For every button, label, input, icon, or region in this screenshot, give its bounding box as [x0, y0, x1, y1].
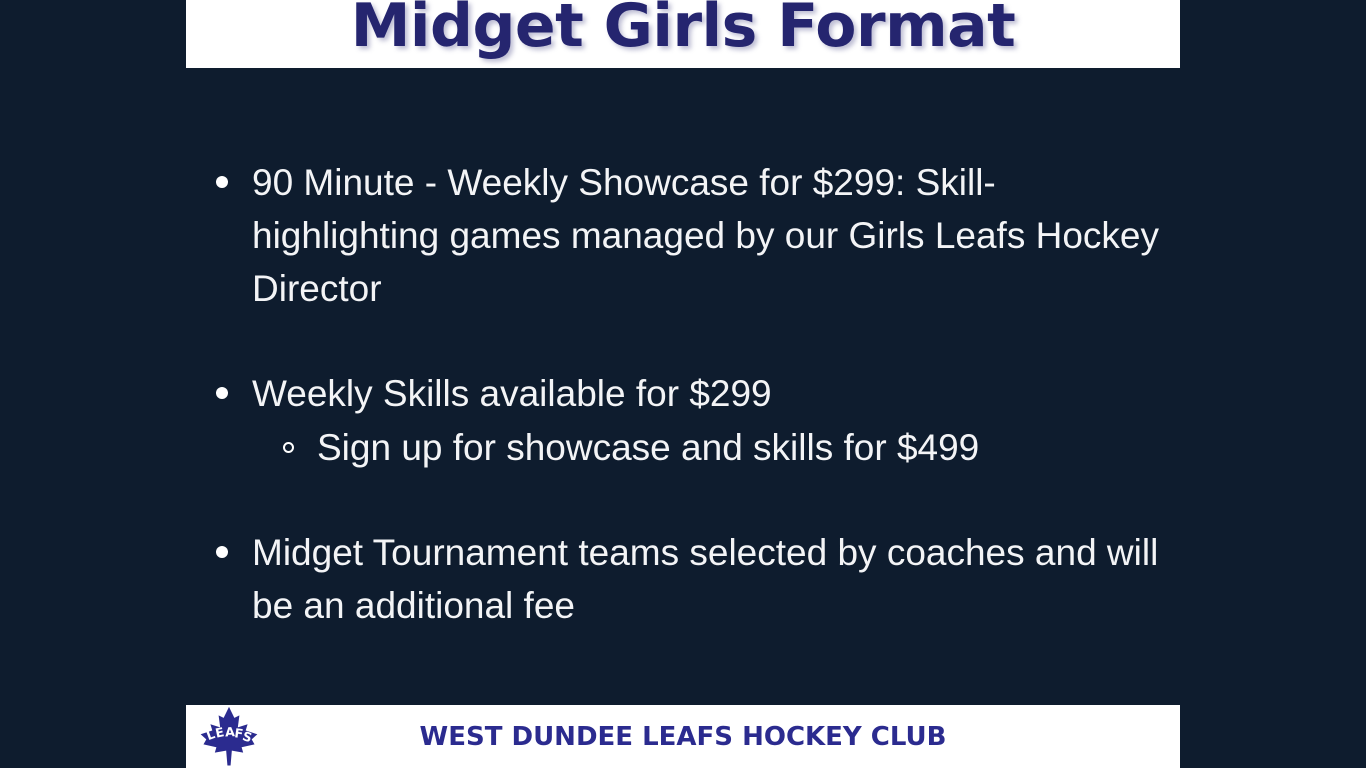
disc-bullet-icon — [216, 176, 228, 188]
maple-leaf-logo-icon: L E A F S — [196, 705, 262, 768]
slide-title-bar: Midget Girls Format — [186, 0, 1180, 68]
circle-bullet-icon — [283, 442, 294, 453]
bullet-text: Midget Tournament teams selected by coac… — [252, 532, 1158, 626]
bullet-text: 90 Minute - Weekly Showcase for $299: Sk… — [252, 162, 1159, 309]
bullet-text: Weekly Skills available for $299 — [252, 373, 772, 414]
disc-bullet-icon — [216, 546, 228, 558]
page-title: Midget Girls Format — [186, 0, 1180, 66]
bullet-group-2: Weekly Skills available for $299 Sign up… — [186, 367, 1180, 474]
sub-bullet-item: Sign up for showcase and skills for $499 — [186, 421, 1180, 474]
slide-footer-bar: L E A F S WEST DUNDEE LEAFS HOCKEY CLUB — [186, 705, 1180, 768]
bullet-group-3: Midget Tournament teams selected by coac… — [186, 526, 1180, 632]
sub-bullet-text: Sign up for showcase and skills for $499 — [317, 427, 979, 468]
bullet-item: Weekly Skills available for $299 — [186, 367, 1180, 420]
footer-organization-name: WEST DUNDEE LEAFS HOCKEY CLUB — [262, 722, 1104, 752]
bullet-item: 90 Minute - Weekly Showcase for $299: Sk… — [186, 156, 1180, 315]
bullet-item: Midget Tournament teams selected by coac… — [186, 526, 1180, 632]
sub-bullet-list: Sign up for showcase and skills for $499 — [186, 421, 1180, 474]
slide-body: 90 Minute - Weekly Showcase for $299: Sk… — [186, 68, 1180, 705]
disc-bullet-icon — [216, 387, 228, 399]
bullet-group-1: 90 Minute - Weekly Showcase for $299: Sk… — [186, 156, 1180, 315]
